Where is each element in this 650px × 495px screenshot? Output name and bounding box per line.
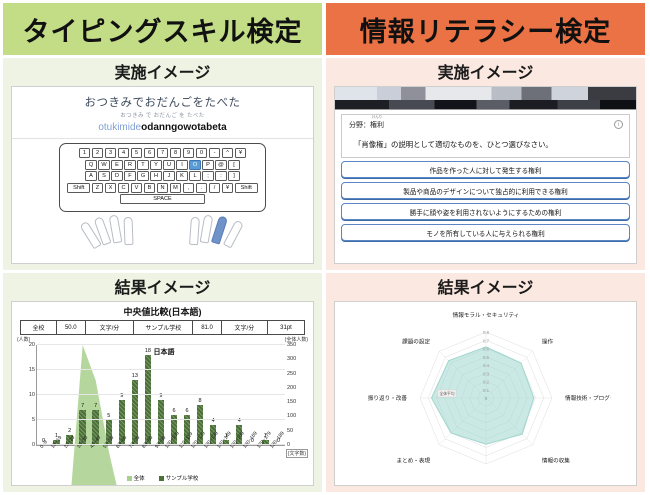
gridline: 5 xyxy=(37,419,285,420)
typing-romaji-rest: odanngowotabeta xyxy=(141,122,227,133)
answer-choice-3[interactable]: 勝手に顔や姿を利用されないようにするための権利 xyxy=(341,203,630,220)
y2-tick-label: 150 xyxy=(287,399,296,405)
key-8[interactable]: 8 xyxy=(170,148,182,158)
key-g[interactable]: G xyxy=(137,171,149,181)
bar-value-label: 6 xyxy=(172,409,175,415)
y2-tick-label: 200 xyxy=(287,385,296,391)
y-tick-label: 15 xyxy=(29,367,35,373)
svg-text:情報モラル・セキュリティ: 情報モラル・セキュリティ xyxy=(452,311,519,319)
answer-choices: 作品を作った人に対して発生する権利製品や商品のデザインについて独占的に利用できる… xyxy=(335,161,636,241)
key-space[interactable]: SPACE xyxy=(120,194,205,204)
svg-text:0.7: 0.7 xyxy=(482,338,489,343)
key-[interactable]: ¥ xyxy=(235,148,247,158)
slide-root: タイピングスキル検定 実施イメージ おつきみでおだんごをたべた おつきみ で お… xyxy=(0,0,650,495)
bar-value-label: 8 xyxy=(199,399,202,405)
key-q[interactable]: Q xyxy=(85,160,97,170)
key-c[interactable]: C xyxy=(118,183,130,193)
bar-slot: 960~69 xyxy=(115,345,128,445)
finger-left-index xyxy=(123,216,133,244)
keyboard-row-3: ASDFGHJKL;:] xyxy=(67,171,258,181)
bar-chart-plot-area: 日本語 00~9110~19220~29730~39740~49550~5996… xyxy=(36,345,285,446)
left-header-title: タイピングスキル検定 xyxy=(3,3,322,55)
bar-slot: 220~29 xyxy=(63,345,76,445)
left-implementation-label: 実施イメージ xyxy=(3,58,322,84)
svg-text:課題の設定: 課題の設定 xyxy=(402,337,430,345)
left-implementation-section: 実施イメージ おつきみでおだんごをたべた おつきみ で おだんご を たべた o… xyxy=(3,58,322,270)
right-result-body: 0.80.70.60.50.40.30.20.10情報モラル・セキュリティ操作情… xyxy=(326,299,645,492)
key-h[interactable]: H xyxy=(150,171,162,181)
bar-slot: 0180~189 xyxy=(272,345,285,445)
bar-chart-plot-wrap: (人数) (全体人数) (文字数) 日本語 00~9110~19220~2973… xyxy=(16,336,309,472)
key-p[interactable]: P xyxy=(202,160,214,170)
key-1[interactable]: 1 xyxy=(79,148,91,158)
finger-right-index xyxy=(189,216,200,245)
question-card: i 分野：けんり権利 「肖像権」の説明として適切なものを、ひとつ選びなさい。 xyxy=(341,114,630,158)
bar-slot: 740~49 xyxy=(89,345,102,445)
typing-prompt: おつきみでおだんごをたべた おつきみ で おだんご を たべた otukimid… xyxy=(12,87,313,139)
typing-kana-text: おつきみでおだんごをたべた xyxy=(18,94,307,110)
bar-slot: 00~9 xyxy=(37,345,50,445)
hand-diagram xyxy=(18,215,308,241)
key-7[interactable]: 7 xyxy=(157,148,169,158)
bar-slot: 8120~129 xyxy=(194,345,207,445)
svg-text:0.6: 0.6 xyxy=(482,346,489,351)
gridline: 0 xyxy=(37,444,285,445)
key-[interactable]: ^ xyxy=(222,148,234,158)
svg-text:0.4: 0.4 xyxy=(482,363,489,368)
svg-text:0.2: 0.2 xyxy=(482,379,489,384)
left-column: タイピングスキル検定 実施イメージ おつきみでおだんごをたべた おつきみ で お… xyxy=(3,3,322,492)
key-j[interactable]: J xyxy=(163,171,175,181)
bar-slot: 4150~159 xyxy=(233,345,246,445)
virtual-keyboard[interactable]: 1234567890-^¥ QWERTYUIOP@[ ASDFGHJKL;:] … xyxy=(59,143,266,212)
question-field-furigana: けんり xyxy=(370,116,384,119)
right-implementation-label: 実施イメージ xyxy=(326,58,645,84)
key-s[interactable]: S xyxy=(98,171,110,181)
bar-value-label: 13 xyxy=(132,374,138,380)
summary-cell-7: 31pt xyxy=(268,321,304,334)
left-result-section: 結果イメージ 中央値比較(日本語) 全校50.0文字/分サンプル学校81.0文字… xyxy=(3,273,322,492)
key-[interactable]: : xyxy=(215,171,227,181)
y2-tick-label: 300 xyxy=(287,356,296,362)
y-tick-label: 20 xyxy=(29,342,35,348)
svg-text:操作: 操作 xyxy=(541,337,553,345)
y2-tick-label: 250 xyxy=(287,371,296,377)
summary-cell-4: サンプル学校 xyxy=(134,321,193,334)
y-tick-label: 5 xyxy=(32,417,35,423)
key-5[interactable]: 5 xyxy=(131,148,143,158)
y2-tick-label: 50 xyxy=(287,428,293,434)
bar-value-label: 18 xyxy=(145,349,151,355)
key-u[interactable]: U xyxy=(163,160,175,170)
radar-chart-svg: 0.80.70.60.50.40.30.20.10情報モラル・セキュリティ操作情… xyxy=(361,310,611,478)
typing-furigana-text: おつきみ で おだんご を たべた xyxy=(18,111,307,119)
bar-slot: 730~39 xyxy=(76,345,89,445)
y2-tick-label: 0 xyxy=(287,442,290,448)
bar-value-label: 2 xyxy=(68,429,71,435)
key-2[interactable]: 2 xyxy=(92,148,104,158)
bar-chart-xlabel: (文字数) xyxy=(286,449,308,458)
question-field-label: 分野： xyxy=(349,122,370,129)
svg-text:0.3: 0.3 xyxy=(482,371,489,376)
info-icon[interactable]: i xyxy=(614,120,623,129)
keyboard-row-4: ShiftZXCVBNM,./¥Shift xyxy=(67,183,258,193)
key-l[interactable]: L xyxy=(189,171,201,181)
left-result-label: 結果イメージ xyxy=(3,273,322,299)
bar-value-label: 6 xyxy=(186,409,189,415)
key-n[interactable]: N xyxy=(157,183,169,193)
bar-slot: 1370~79 xyxy=(128,345,141,445)
right-column: 情報リテラシー検定 実施イメージ i 分野：けんり権利 「肖像権」の説明として適… xyxy=(326,3,645,492)
key-[interactable]: ; xyxy=(202,171,214,181)
bar-chart-card: 中央値比較(日本語) 全校50.0文字/分サンプル学校81.0文字/分31pt … xyxy=(11,301,314,486)
key-r[interactable]: R xyxy=(124,160,136,170)
typing-romaji-text: otukimideodanngowotabeta xyxy=(18,122,307,133)
bar-slot: 110~19 xyxy=(50,345,63,445)
y-tick-label: 10 xyxy=(29,392,35,398)
gridline: 10 xyxy=(37,394,285,395)
summary-cell-1: 全校 xyxy=(21,321,57,334)
y2-tick-label: 350 xyxy=(287,342,296,348)
literacy-app-screenshot: i 分野：けんり権利 「肖像権」の説明として適切なものを、ひとつ選びなさい。 作… xyxy=(334,86,637,264)
key-m[interactable]: M xyxy=(170,183,182,193)
key-[interactable]: / xyxy=(209,183,221,193)
classroom-photo xyxy=(335,87,636,110)
key-k[interactable]: K xyxy=(176,171,188,181)
key-e[interactable]: E xyxy=(111,160,123,170)
left-result-body: 中央値比較(日本語) 全校50.0文字/分サンプル学校81.0文字/分31pt … xyxy=(3,299,322,492)
key-shift[interactable]: Shift xyxy=(67,183,90,193)
question-field-line: 分野：けんり権利 xyxy=(349,120,622,130)
key-x[interactable]: X xyxy=(105,183,117,193)
svg-text:まとめ・表現: まとめ・表現 xyxy=(396,456,430,464)
right-implementation-body: i 分野：けんり権利 「肖像権」の説明として適切なものを、ひとつ選びなさい。 作… xyxy=(326,84,645,270)
median-comparison-table: 全校50.0文字/分サンプル学校81.0文字/分31pt xyxy=(20,320,305,335)
summary-cell-3: 文字/分 xyxy=(86,321,135,334)
key-[interactable]: @ xyxy=(215,160,227,170)
key-i[interactable]: I xyxy=(176,160,188,170)
bar-slot: 0160~169 xyxy=(246,345,259,445)
key-o[interactable]: O xyxy=(189,160,201,170)
typing-app-screenshot: おつきみでおだんごをたべた おつきみ で おだんご を たべた otukimid… xyxy=(11,86,314,264)
key-[interactable]: ] xyxy=(228,171,240,181)
radar-chart: 0.80.70.60.50.40.30.20.10情報モラル・セキュリティ操作情… xyxy=(335,302,636,485)
key-4[interactable]: 4 xyxy=(118,148,130,158)
svg-text:全体平均: 全体平均 xyxy=(439,391,454,396)
question-field-value: 権利 xyxy=(370,122,384,129)
key-a[interactable]: A xyxy=(85,171,97,181)
right-implementation-section: 実施イメージ i 分野：けんり権利 「肖像権」の説明として適切なものを、ひとつ選… xyxy=(326,58,645,270)
key-t[interactable]: T xyxy=(137,160,149,170)
bar-series-container: 00~9110~19220~29730~39740~49550~59960~69… xyxy=(37,345,285,445)
key-[interactable]: , xyxy=(183,183,195,193)
summary-cell-6: 文字/分 xyxy=(222,321,268,334)
y2-tick-label: 100 xyxy=(287,413,296,419)
key-f[interactable]: F xyxy=(124,171,136,181)
svg-text:振り返り・改善: 振り返り・改善 xyxy=(367,394,407,402)
key-[interactable]: ¥ xyxy=(222,183,234,193)
svg-text:0.8: 0.8 xyxy=(482,330,489,335)
svg-text:情報の収集: 情報の収集 xyxy=(541,456,569,464)
bar-slot: 1170~179 xyxy=(259,345,272,445)
bar-chart-title: 中央値比較(日本語) xyxy=(16,305,309,318)
bar-value-label: 7 xyxy=(94,404,97,410)
keyboard-row-2: QWERTYUIOP@[ xyxy=(67,160,258,170)
bar-slot: 6100~109 xyxy=(167,345,180,445)
key-b[interactable]: B xyxy=(144,183,156,193)
answer-choice-2[interactable]: 製品や商品のデザインについて独占的に利用できる権利 xyxy=(341,182,630,199)
left-implementation-body: おつきみでおだんごをたべた おつきみ で おだんご を たべた otukimid… xyxy=(3,84,322,270)
summary-cell-5: 81.0 xyxy=(193,321,221,334)
typing-romaji-done: otukimide xyxy=(98,122,141,133)
answer-choice-4[interactable]: モノを所有している人に与えられる権利 xyxy=(341,224,630,241)
bar-slot: 990~99 xyxy=(154,345,167,445)
key-z[interactable]: Z xyxy=(92,183,104,193)
key-v[interactable]: V xyxy=(131,183,143,193)
keyboard-row-1: 1234567890-^¥ xyxy=(67,148,258,158)
summary-cell-2: 50.0 xyxy=(57,321,85,334)
bar-slot: 1880~89 xyxy=(141,345,154,445)
right-header-title: 情報リテラシー検定 xyxy=(326,3,645,55)
radar-chart-card: 0.80.70.60.50.40.30.20.10情報モラル・セキュリティ操作情… xyxy=(334,301,637,486)
question-text: 「肖像権」の説明として適切なものを、ひとつ選びなさい。 xyxy=(349,139,622,150)
key-[interactable]: . xyxy=(196,183,208,193)
svg-text:情報技術・プログラミング: 情報技術・プログラミング xyxy=(565,394,611,402)
bar-slot: 4130~139 xyxy=(207,345,220,445)
svg-text:0.5: 0.5 xyxy=(482,354,489,359)
bar-slot: 6110~119 xyxy=(181,345,194,445)
key-9[interactable]: 9 xyxy=(183,148,195,158)
key-w[interactable]: W xyxy=(98,160,110,170)
key-[interactable]: - xyxy=(209,148,221,158)
key-y[interactable]: Y xyxy=(150,160,162,170)
right-result-label: 結果イメージ xyxy=(326,273,645,299)
key-shift[interactable]: Shift xyxy=(235,183,258,193)
typing-keyboard-area: 1234567890-^¥ QWERTYUIOP@[ ASDFGHJKL;:] … xyxy=(12,139,313,263)
bar-slot: 550~59 xyxy=(102,345,115,445)
svg-text:0.1: 0.1 xyxy=(482,387,489,392)
gridline: 15 xyxy=(37,369,285,370)
key-d[interactable]: D xyxy=(111,171,123,181)
key-0[interactable]: 0 xyxy=(196,148,208,158)
y-tick-label: 0 xyxy=(32,442,35,448)
bar-slot: 1140~149 xyxy=(220,345,233,445)
bar-value-label: 7 xyxy=(81,404,84,410)
key-[interactable]: [ xyxy=(228,160,240,170)
key-6[interactable]: 6 xyxy=(144,148,156,158)
key-3[interactable]: 3 xyxy=(105,148,117,158)
answer-choice-1[interactable]: 作品を作った人に対して発生する権利 xyxy=(341,161,630,178)
gridline: 20 xyxy=(37,344,285,345)
keyboard-row-5: SPACE xyxy=(67,194,258,204)
right-result-section: 結果イメージ 0.80.70.60.50.40.30.20.10情報モラル・セキ… xyxy=(326,273,645,492)
